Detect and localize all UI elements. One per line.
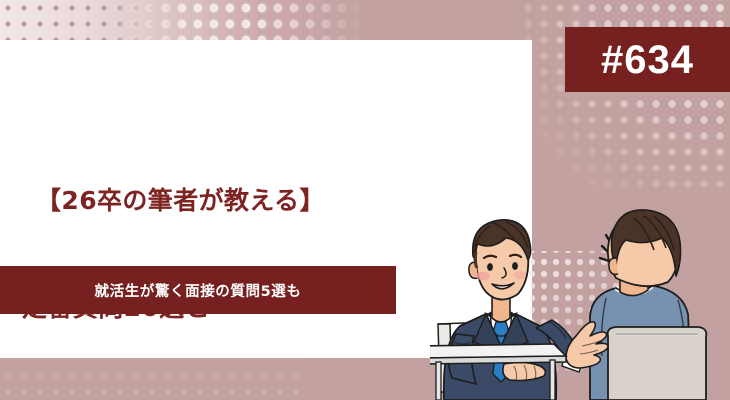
subtitle-label: 就活生が驚く面接の質問5選も xyxy=(95,280,302,301)
interview-illustration-svg xyxy=(430,196,730,400)
subtitle-band: 就活生が驚く面接の質問5選も xyxy=(0,266,396,314)
page-title-line-1: 【26卒の筆者が教える】 xyxy=(22,183,402,219)
blog-thumbnail-banner: #634 【26卒の筆者が教える】 定番質問20選と どこでも使える回答フォーマ… xyxy=(0,0,730,400)
chair xyxy=(608,327,707,400)
issue-number-label: #634 xyxy=(601,40,694,80)
page-title: 【26卒の筆者が教える】 定番質問20選と どこでも使える回答フォーマット xyxy=(22,112,402,400)
halftone-top-light-dots xyxy=(110,0,410,40)
interview-illustration xyxy=(430,196,730,400)
issue-number-badge: #634 xyxy=(565,27,730,92)
page-title-line-3: どこでも使える回答フォーマット xyxy=(22,396,402,400)
